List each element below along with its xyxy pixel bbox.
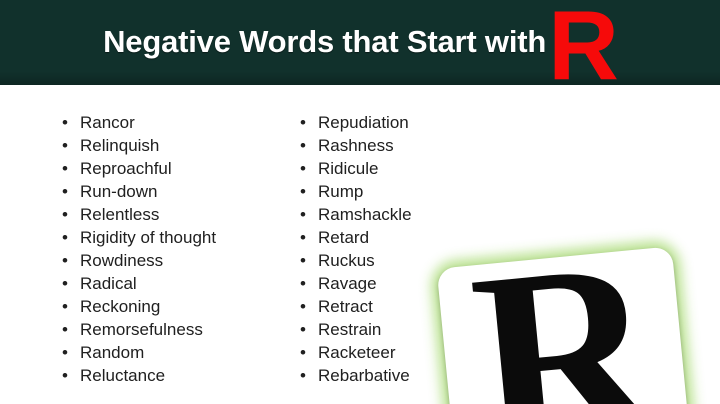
list-item: •Reproachful [62,157,216,180]
list-item: •Rigidity of thought [62,226,216,249]
list-item: •Rowdiness [62,249,216,272]
bullet-icon: • [300,318,318,341]
bullet-icon: • [62,318,80,341]
list-item: •Run-down [62,180,216,203]
list-item: •Rump [300,180,412,203]
word-label: Racketeer [318,341,395,364]
word-label: Rebarbative [318,364,410,387]
list-item: •Rebarbative [300,364,412,387]
bullet-icon: • [300,134,318,157]
word-label: Reproachful [80,157,172,180]
bullet-icon: • [62,341,80,364]
word-label: Ruckus [318,249,375,272]
bullet-icon: • [62,203,80,226]
letter-card-surface: R [437,246,694,404]
word-label: Radical [80,272,137,295]
list-item: •Remorsefulness [62,318,216,341]
bullet-icon: • [62,157,80,180]
word-label: Rigidity of thought [80,226,216,249]
word-label: Ravage [318,272,377,295]
list-item: •Radical [62,272,216,295]
page-title: Negative Words that Start with R [0,0,720,85]
word-label: Restrain [318,318,381,341]
list-item: •Rancor [62,111,216,134]
word-label: Retard [318,226,369,249]
word-label: Relentless [80,203,159,226]
bullet-icon: • [300,295,318,318]
page-title-text: Negative Words that Start with [103,26,546,57]
word-label: Relinquish [80,134,159,157]
word-label: Random [80,341,144,364]
word-label: Repudiation [318,111,409,134]
bullet-icon: • [300,272,318,295]
bullet-icon: • [62,249,80,272]
bullet-icon: • [300,180,318,203]
bullet-icon: • [62,295,80,318]
word-label: Reckoning [80,295,160,318]
list-item: •Ridicule [300,157,412,180]
word-label: Run-down [80,180,158,203]
list-item: •Relentless [62,203,216,226]
bullet-icon: • [62,272,80,295]
bullet-icon: • [62,134,80,157]
word-label: Rump [318,180,363,203]
list-item: •Reckoning [62,295,216,318]
bullet-icon: • [300,111,318,134]
list-item: •Retard [300,226,412,249]
bullet-icon: • [62,364,80,387]
bullet-icon: • [300,226,318,249]
word-label: Reluctance [80,364,165,387]
list-item: •Rashness [300,134,412,157]
list-item: •Relinquish [62,134,216,157]
word-label: Rashness [318,134,394,157]
letter-r-icon: R [437,246,694,404]
word-label: Ridicule [318,157,378,180]
list-item: •Random [62,341,216,364]
bullet-icon: • [62,180,80,203]
list-item: •Ravage [300,272,412,295]
bullet-icon: • [300,341,318,364]
word-label: Rowdiness [80,249,163,272]
letter-r-glyph-text: R [464,246,668,404]
list-item: •Repudiation [300,111,412,134]
list-item: •Racketeer [300,341,412,364]
word-list-column-left: •Rancor•Relinquish•Reproachful•Run-down•… [62,111,216,387]
word-label: Retract [318,295,373,318]
list-item: •Ruckus [300,249,412,272]
word-label: Rancor [80,111,135,134]
list-item: •Restrain [300,318,412,341]
list-item: •Ramshackle [300,203,412,226]
header-band: Negative Words that Start with R [0,0,720,85]
word-label: Remorsefulness [80,318,203,341]
word-list-area: •Rancor•Relinquish•Reproachful•Run-down•… [0,85,720,404]
word-list-column-right: •Repudiation•Rashness•Ridicule•Rump•Rams… [300,111,412,387]
bullet-icon: • [62,226,80,249]
list-item: •Retract [300,295,412,318]
bullet-icon: • [62,111,80,134]
decorative-letter-card: R [437,246,694,404]
poster-root: Negative Words that Start with R •Rancor… [0,0,720,404]
list-item: •Reluctance [62,364,216,387]
bullet-icon: • [300,157,318,180]
bullet-icon: • [300,249,318,272]
bullet-icon: • [300,203,318,226]
word-label: Ramshackle [318,203,412,226]
page-title-highlight-letter: R [548,0,617,85]
bullet-icon: • [300,364,318,387]
